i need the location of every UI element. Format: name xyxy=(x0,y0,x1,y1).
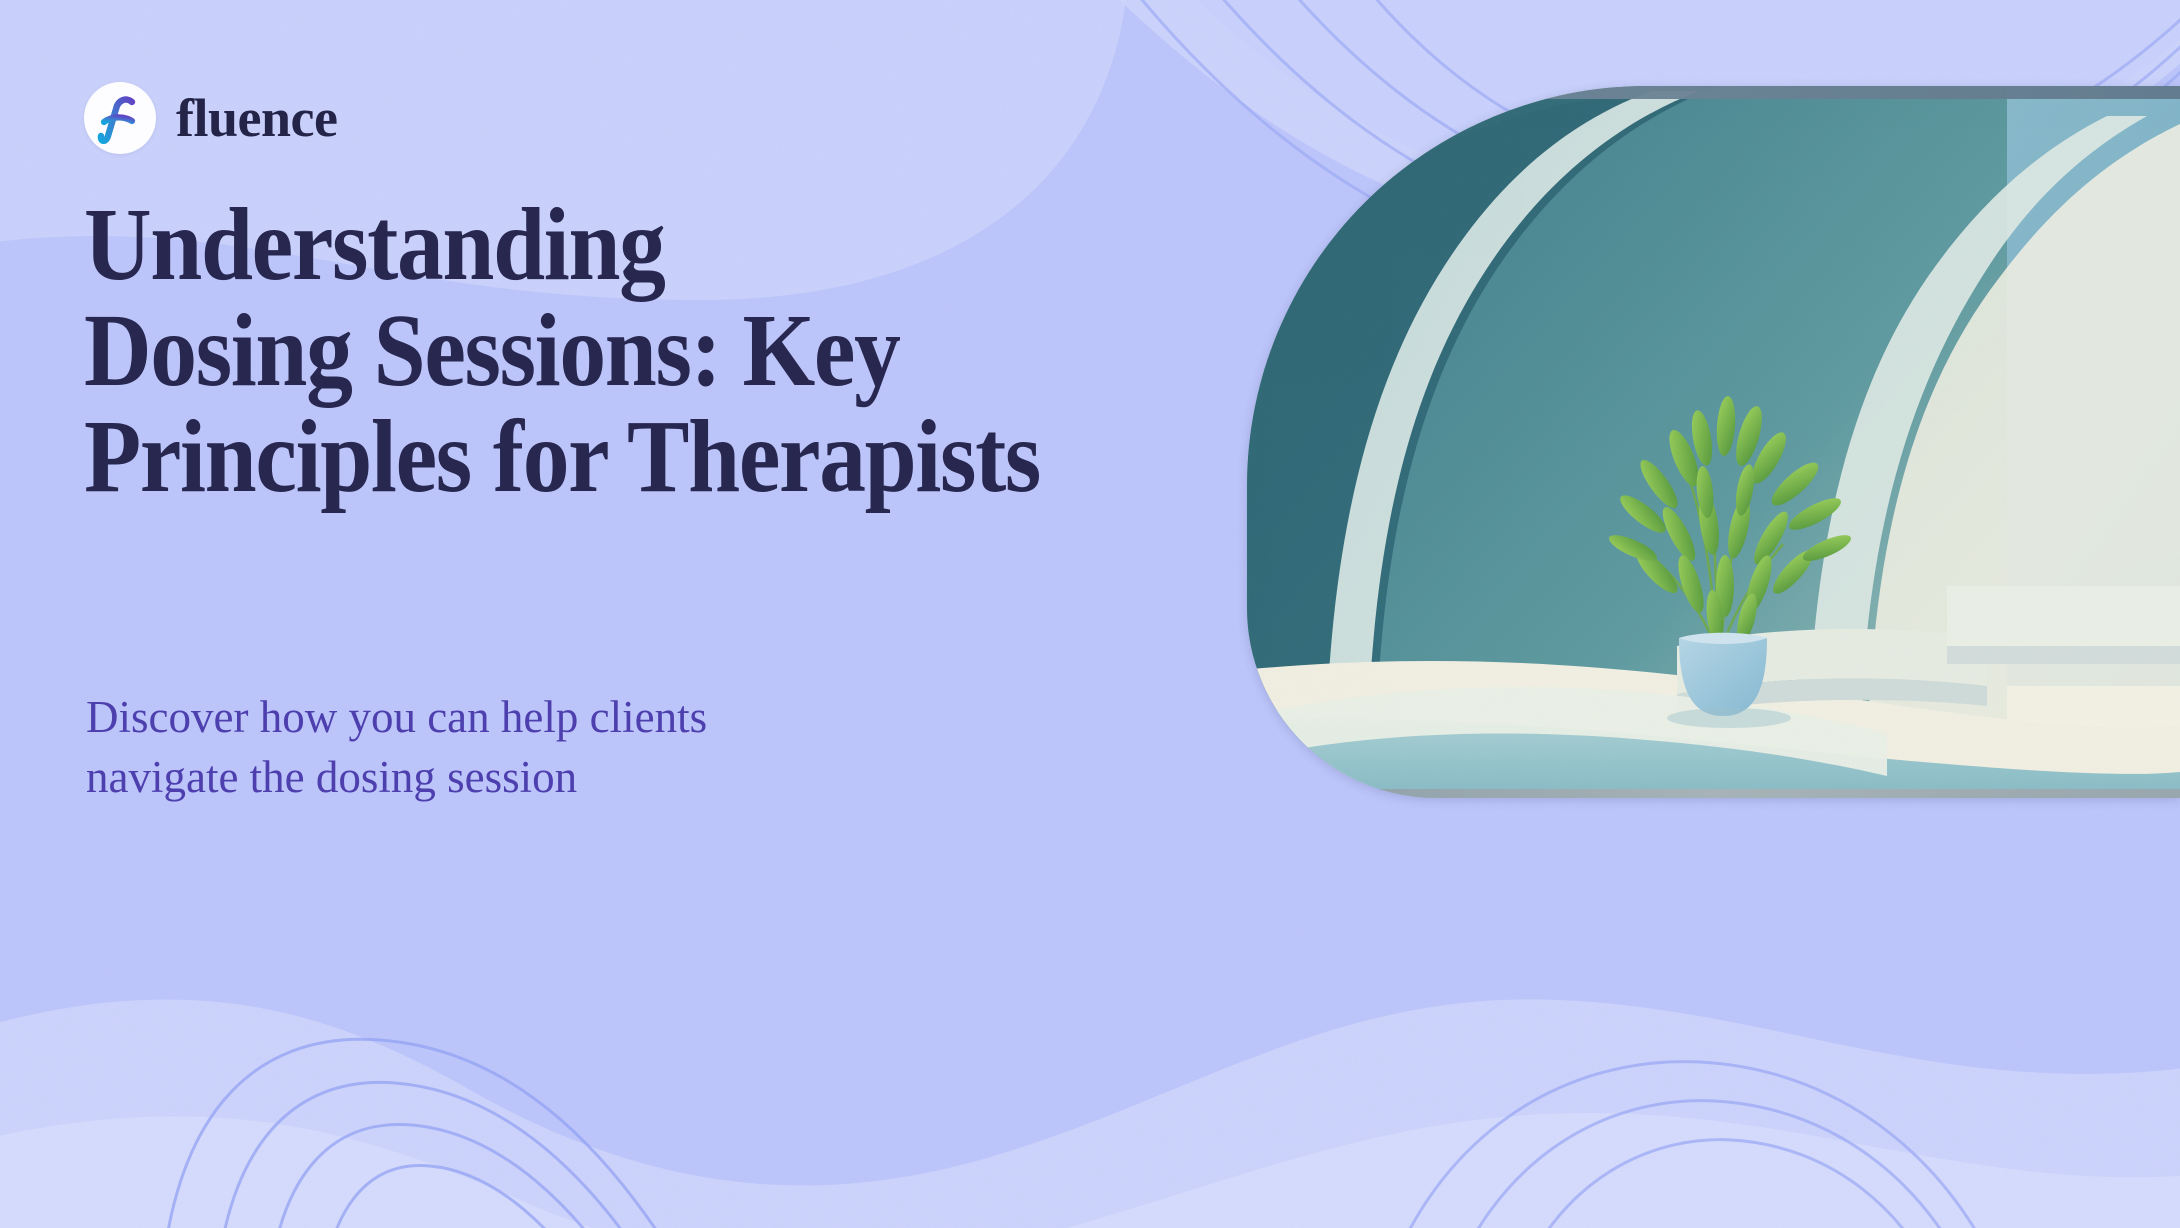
page-title: Understanding Dosing Sessions: Key Princ… xyxy=(84,192,1146,510)
brand-wordmark: fluence xyxy=(176,91,337,145)
brand-logo[interactable]: fluence xyxy=(84,82,337,154)
arched-corridor-illustration xyxy=(1247,86,2180,798)
hero-artwork-panel xyxy=(1247,86,2180,798)
page-subtitle: Discover how you can help clients naviga… xyxy=(86,688,846,808)
hero-banner: fluence Understanding Dosing Sessions: K… xyxy=(0,0,2180,1228)
fluence-f-monogram-icon xyxy=(84,82,156,154)
panel-bottom-edge xyxy=(1247,789,2180,798)
panel-top-edge xyxy=(1247,86,2180,99)
